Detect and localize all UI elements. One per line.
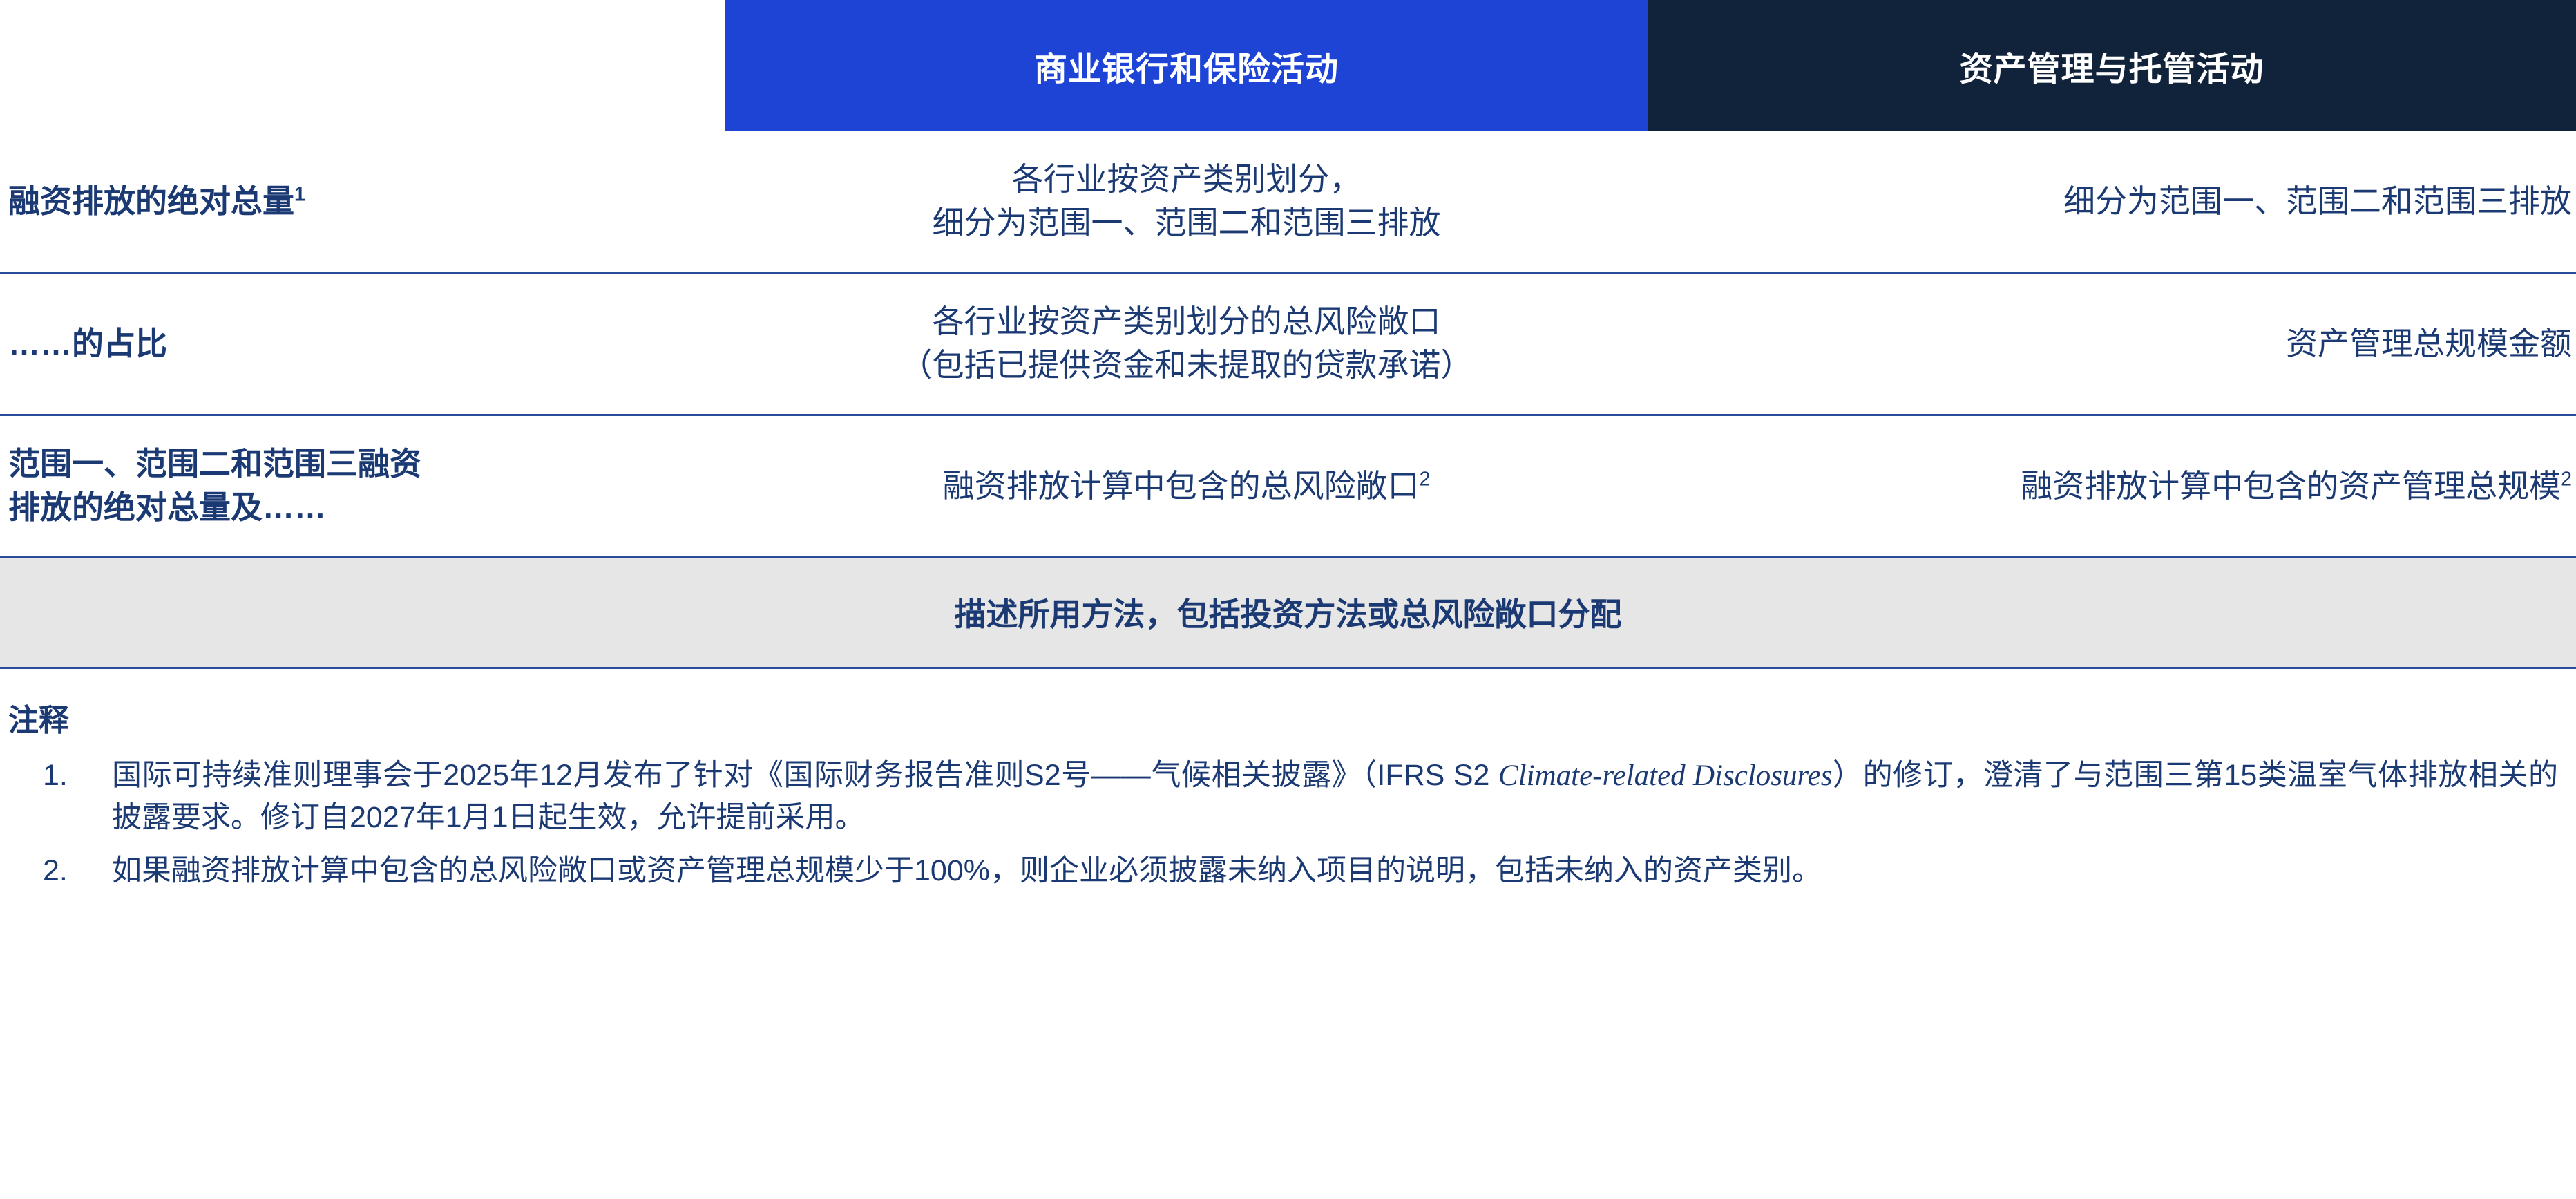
methodology-banner: 描述所用方法，包括投资方法或总风险敞口分配 [0, 557, 2576, 668]
cell-text: 融资排放计算中包含的资产管理总规模 [2021, 468, 2561, 504]
note-text: 如果融资排放计算中包含的总风险敞口或资产管理总规模少于100%，则企业必须披露未… [112, 854, 1822, 887]
row-label-percentage-of: ……的占比 [0, 272, 725, 415]
notes-title: 注释 [8, 695, 2558, 739]
row-label-text: ……的占比 [8, 325, 167, 361]
table-banner-row: 描述所用方法，包括投资方法或总风险敞口分配 [0, 557, 2576, 668]
cell-text: 各行业按资产类别划分的总风险敞口（包括已提供资金和未提取的贷款承诺） [901, 303, 1473, 383]
row-label-text: 范围一、范围二和范围三融资排放的绝对总量及…… [8, 446, 421, 525]
note-number: 2. [43, 850, 91, 892]
note-text: 国际可持续准则理事会于2025年12月发布了针对《国际财务报告准则S2号——气候… [112, 759, 2558, 834]
notes-section: 注释 1. 国际可持续准则理事会于2025年12月发布了针对《国际财务报告准则S… [0, 669, 2576, 892]
table-header: 商业银行和保险活动 资产管理与托管活动 [0, 0, 2576, 131]
notes-list: 1. 国际可持续准则理事会于2025年12月发布了针对《国际财务报告准则S2号—… [8, 755, 2558, 892]
note-number: 1. [43, 755, 91, 797]
cell-commercial-banking-row3: 融资排放计算中包含的总风险敞口2 [725, 415, 1648, 557]
cell-commercial-banking-row1: 各行业按资产类别划分，细分为范围一、范围二和范围三排放 [725, 131, 1648, 272]
disclosure-matrix-table: 商业银行和保险活动 资产管理与托管活动 融资排放的绝对总量1 各行业按资产类别划… [0, 0, 2576, 669]
table-row: ……的占比 各行业按资产类别划分的总风险敞口（包括已提供资金和未提取的贷款承诺）… [0, 272, 2576, 415]
footnote-marker: 2 [1420, 468, 1431, 490]
row-label-text: 融资排放的绝对总量 [8, 183, 294, 219]
row-label-scope-123-absolute: 范围一、范围二和范围三融资排放的绝对总量及…… [0, 415, 725, 557]
table-corner-cell [0, 0, 725, 131]
table-row: 范围一、范围二和范围三融资排放的绝对总量及…… 融资排放计算中包含的总风险敞口2… [0, 415, 2576, 557]
cell-text: 融资排放计算中包含的总风险敞口 [943, 468, 1420, 504]
slide-page: 商业银行和保险活动 资产管理与托管活动 融资排放的绝对总量1 各行业按资产类别划… [0, 0, 2576, 1199]
cell-text: 各行业按资产类别划分，细分为范围一、范围二和范围三排放 [933, 161, 1441, 240]
row-label-absolute-gross-financed-emissions: 融资排放的绝对总量1 [0, 131, 725, 272]
table-body: 融资排放的绝对总量1 各行业按资产类别划分，细分为范围一、范围二和范围三排放 细… [0, 131, 2576, 668]
footnote-marker: 2 [2561, 468, 2572, 490]
cell-text: 资产管理总规模金额 [2286, 325, 2572, 361]
cell-asset-management-row2: 资产管理总规模金额 [1648, 272, 2576, 415]
cell-asset-management-row1: 细分为范围一、范围二和范围三排放 [1648, 131, 2576, 272]
table-row: 融资排放的绝对总量1 各行业按资产类别划分，细分为范围一、范围二和范围三排放 细… [0, 131, 2576, 272]
note-item-1: 1. 国际可持续准则理事会于2025年12月发布了针对《国际财务报告准则S2号—… [8, 755, 2558, 839]
cell-text: 细分为范围一、范围二和范围三排放 [2063, 183, 2572, 219]
column-header-asset-management: 资产管理与托管活动 [1648, 0, 2576, 131]
header-row: 商业银行和保险活动 资产管理与托管活动 [0, 0, 2576, 131]
column-header-commercial-banking: 商业银行和保险活动 [725, 0, 1648, 131]
footnote-marker: 1 [294, 183, 305, 205]
cell-asset-management-row3: 融资排放计算中包含的资产管理总规模2 [1648, 415, 2576, 557]
cell-commercial-banking-row2: 各行业按资产类别划分的总风险敞口（包括已提供资金和未提取的贷款承诺） [725, 272, 1648, 415]
note-item-2: 2. 如果融资排放计算中包含的总风险敞口或资产管理总规模少于100%，则企业必须… [8, 850, 2558, 892]
